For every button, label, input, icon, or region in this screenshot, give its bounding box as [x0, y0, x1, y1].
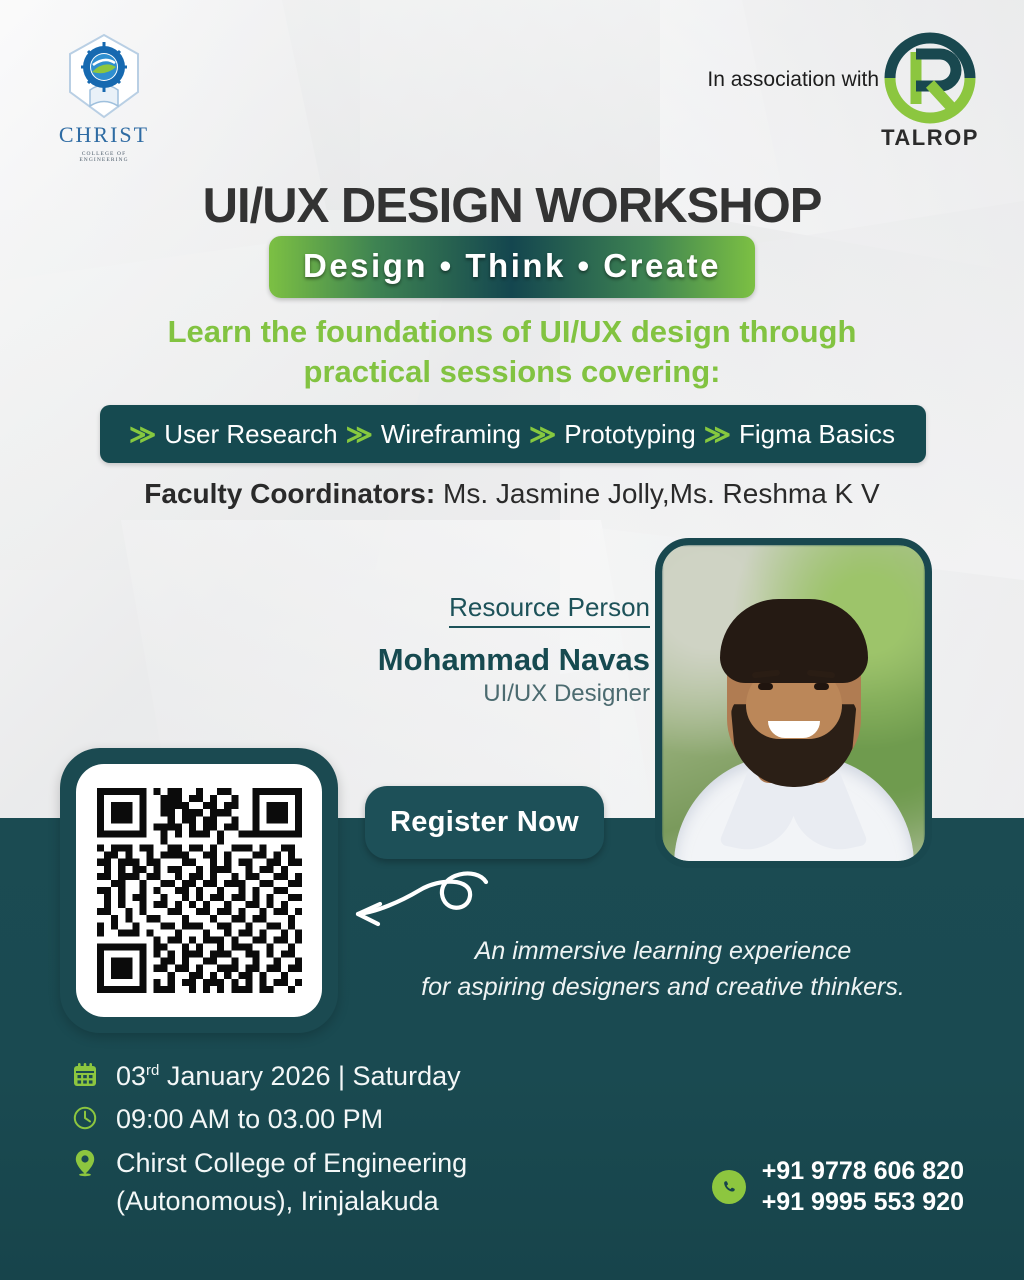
chevron-icon: ≫ [127, 419, 158, 450]
page-title: UI/UX DESIGN WORKSHOP [0, 178, 1024, 234]
tagline-text: An immersive learning experience for asp… [348, 933, 978, 1006]
phone-numbers[interactable]: +91 9778 606 820 +91 9995 553 920 [762, 1156, 964, 1219]
venue-line-1: Chirst College of Engineering [116, 1144, 467, 1182]
talrop-logo: TALROP [878, 30, 982, 151]
phone-number-2[interactable]: +91 9995 553 920 [762, 1187, 964, 1218]
register-now-label: Register Now [390, 806, 579, 839]
resource-person-name: Mohammad Navas [350, 642, 650, 678]
faculty-label: Faculty Coordinators: [144, 478, 435, 509]
association-text: In association with [707, 68, 879, 92]
chevron-icon: ≫ [344, 419, 375, 450]
topic-item: User Research [160, 419, 341, 450]
topic-item: Prototyping [560, 419, 700, 450]
qr-code-icon[interactable] [97, 788, 302, 993]
date-day: 03 [116, 1061, 146, 1091]
event-details: 03rd January 2026 | Saturday 09:00 AM to… [72, 1057, 632, 1225]
curved-arrow-icon [336, 868, 496, 938]
register-now-button[interactable]: Register Now [365, 786, 604, 859]
photo-eye-right [814, 683, 829, 690]
resource-person-block: Resource Person Mohammad Navas UI/UX Des… [350, 592, 650, 708]
venue-line-2: (Autonomous), Irinjalakuda [116, 1182, 467, 1220]
qr-code-frame[interactable] [60, 748, 338, 1033]
lead-text: Learn the foundations of UI/UX design th… [0, 312, 1024, 391]
faculty-coordinators: Faculty Coordinators: Ms. Jasmine Jolly,… [0, 478, 1024, 510]
talrop-logo-name: TALROP [878, 125, 982, 151]
topics-bar: ≫ User Research ≫ Wireframing ≫ Prototyp… [100, 405, 926, 463]
location-pin-icon [72, 1144, 116, 1182]
tagline-pill-wrap: Design • Think • Create [0, 236, 1024, 298]
photo-hair [720, 599, 868, 683]
talrop-mark-icon [878, 30, 982, 126]
resource-person-role: UI/UX Designer [350, 680, 650, 708]
phone-number-1[interactable]: +91 9778 606 820 [762, 1156, 964, 1187]
christ-emblem-icon [64, 32, 144, 120]
detail-venue-text: Chirst College of Engineering (Autonomou… [116, 1144, 467, 1221]
chevron-icon: ≫ [702, 419, 733, 450]
tagline-line-1: An immersive learning experience [348, 933, 978, 969]
resource-person-photo [655, 538, 932, 868]
christ-logo-subtitle: COLLEGE OF ENGINEERING [56, 151, 152, 163]
photo-eye-left [758, 683, 773, 690]
detail-date-text: 03rd January 2026 | Saturday [116, 1057, 461, 1095]
clock-icon [72, 1100, 116, 1136]
calendar-icon [72, 1057, 116, 1093]
date-ordinal: rd [146, 1062, 159, 1079]
resource-person-label: Resource Person [449, 592, 650, 628]
topic-item: Wireframing [377, 419, 525, 450]
chevron-icon: ≫ [527, 419, 558, 450]
lead-line-1: Learn the foundations of UI/UX design th… [0, 312, 1024, 352]
detail-time-text: 09:00 AM to 03.00 PM [116, 1100, 383, 1138]
tagline-line-2: for aspiring designers and creative thin… [348, 969, 978, 1005]
tagline-pill: Design • Think • Create [269, 236, 755, 298]
whatsapp-icon[interactable] [712, 1170, 746, 1204]
detail-row-time: 09:00 AM to 03.00 PM [72, 1100, 632, 1138]
detail-row-date: 03rd January 2026 | Saturday [72, 1057, 632, 1095]
christ-logo-name: CHRIST [56, 122, 152, 148]
detail-row-venue: Chirst College of Engineering (Autonomou… [72, 1144, 632, 1221]
photo-inner [662, 545, 925, 861]
faculty-names: Ms. Jasmine Jolly,Ms. Reshma K V [435, 478, 879, 509]
contact-block[interactable]: +91 9778 606 820 +91 9995 553 920 [712, 1156, 964, 1219]
topic-item: Figma Basics [735, 419, 899, 450]
christ-college-logo: CHRIST COLLEGE OF ENGINEERING [56, 32, 152, 163]
tagline-pill-text: Design • Think • Create [303, 247, 721, 284]
lead-line-2: practical sessions covering: [0, 352, 1024, 392]
qr-code-card[interactable] [76, 764, 322, 1017]
poster-canvas: CHRIST COLLEGE OF ENGINEERING In associa… [0, 0, 1024, 1280]
date-rest: January 2026 | Saturday [159, 1061, 460, 1091]
